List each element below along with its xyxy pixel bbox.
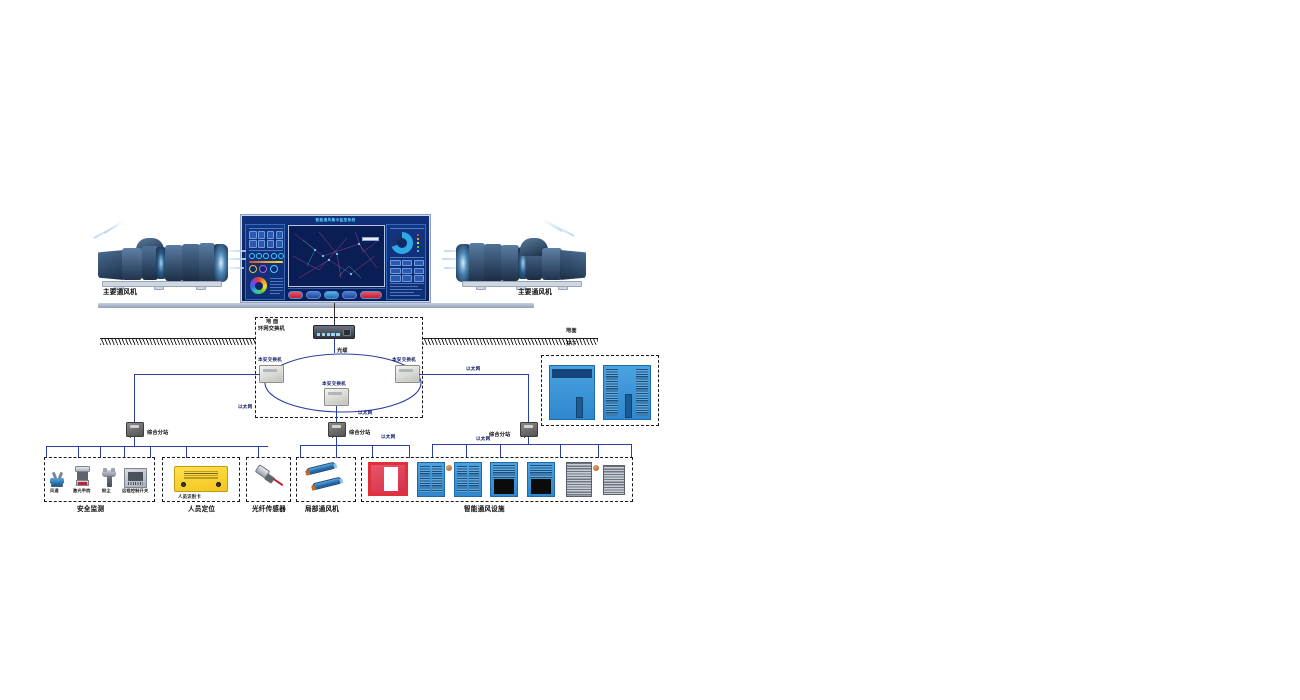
monitor-left-panel — [245, 224, 285, 300]
monitor-stat-cell — [402, 260, 413, 266]
topology-tooltip — [362, 237, 379, 241]
ring-switch-label-line2: 环网交换机 — [258, 327, 285, 333]
fan-barrel-section — [469, 243, 485, 283]
bus-riser-n — [500, 444, 501, 458]
surface-label: 地面 — [566, 329, 577, 335]
monitor-color-wheel — [250, 277, 267, 294]
card-button[interactable] — [216, 482, 221, 487]
control-room-floor — [98, 303, 534, 308]
ventilation-airlock-frame[interactable] — [368, 462, 408, 496]
personnel-id-card-label: 人员识别卡 — [178, 494, 201, 499]
topology-graph — [289, 226, 384, 286]
monitor-gauge — [263, 253, 269, 259]
safe-switch-right[interactable] — [395, 365, 420, 383]
air-door-louver — [469, 466, 479, 494]
fan-base-foot — [558, 286, 568, 290]
monitor-icon-cell[interactable] — [276, 231, 284, 239]
fan-barrel-section — [182, 244, 200, 282]
wind-speed-sensor-label: 风速 — [50, 489, 59, 494]
dust-sensor-label: 粉尘 — [102, 489, 111, 494]
bus-riser-p — [598, 444, 599, 458]
monitor-dial-row — [249, 265, 278, 273]
monitor-action-button[interactable] — [324, 291, 339, 299]
group-fiber-sensor-label: 光纤传感器 — [252, 506, 286, 514]
bus-middle — [300, 445, 410, 446]
bus-riser-l — [432, 444, 433, 458]
air-door-leaf — [576, 397, 583, 418]
main-fan-left — [96, 224, 236, 296]
air-door-louver — [432, 466, 442, 494]
monitor-stat-cell — [414, 275, 425, 281]
monitor-icon-grid — [249, 231, 283, 248]
air-door-louver — [530, 465, 552, 478]
monitor-stat-cell — [390, 275, 401, 281]
safe-switch-left-label: 本安交换机 — [258, 357, 282, 362]
monitor-action-buttons — [288, 290, 385, 300]
air-door-louver — [457, 466, 467, 494]
switch-ports — [317, 333, 340, 336]
air-door-opening — [494, 479, 514, 494]
monitor-legend-swatch — [417, 246, 419, 248]
ethernet-left-run — [134, 374, 260, 375]
smart-air-door-2[interactable] — [454, 462, 482, 497]
ethernet-label-1: 以太网 — [238, 404, 252, 409]
personnel-id-card-icon[interactable] — [174, 466, 228, 492]
monitor-stat-cell — [414, 260, 425, 266]
ethernet-label-4: 以太网 — [381, 434, 395, 439]
monitor-legend-swatch — [417, 242, 419, 244]
ethernet-label-5: 以太网 — [476, 436, 490, 441]
underground-label: 井下 — [566, 342, 577, 348]
substation-middle[interactable] — [328, 422, 346, 437]
switch-module — [343, 329, 351, 336]
card-text-lines — [184, 471, 217, 478]
safe-switch-left[interactable] — [259, 365, 284, 383]
monitor-stat-cell — [402, 275, 413, 281]
fan-barrel-section — [542, 248, 562, 280]
dust-sensor-icon[interactable] — [102, 468, 116, 488]
fan-outlet-ring — [214, 244, 228, 282]
fan-barrel-section — [484, 244, 502, 282]
control-room-monitor: 智能通风集中监控系统 — [241, 215, 430, 302]
monitor-icon-cell[interactable] — [249, 240, 257, 248]
substation-middle-label: 综合分站 — [349, 431, 371, 437]
air-regulator-1[interactable] — [566, 462, 592, 497]
ethernet-label-2: 以太网 — [466, 366, 480, 371]
fan-barrel-section — [165, 245, 183, 281]
group-safety-monitoring-label: 安全监测 — [77, 506, 104, 514]
airflow-streak — [541, 218, 562, 232]
ethernet-right-run — [419, 374, 529, 375]
fiber-optic-sensor-icon[interactable] — [254, 464, 284, 496]
fan-barrel-section — [501, 245, 519, 281]
bus-riser-m — [466, 444, 467, 458]
sensor-fiber-tip — [272, 478, 283, 486]
monitor-stat-cell — [390, 268, 401, 274]
fan-intake-cone — [560, 250, 586, 280]
safe-switch-right-label: 本安交换机 — [392, 357, 416, 362]
safe-switch-bottom[interactable] — [324, 388, 349, 406]
monitor-icon-cell[interactable] — [249, 231, 257, 239]
monitor-icon-cell[interactable] — [267, 240, 275, 248]
monitor-icon-cell[interactable] — [258, 231, 266, 239]
remote-control-switch-label: 远程控制开关 — [122, 489, 148, 494]
monitor-stat-cell — [390, 260, 401, 266]
ring-network-switch[interactable] — [313, 325, 355, 339]
ethernet-right-drop — [528, 374, 529, 423]
monitor-dial — [270, 265, 278, 273]
monitor-right-panel — [386, 224, 426, 300]
fan-intake-cone — [98, 250, 124, 280]
monitor-legend-swatch — [417, 234, 419, 236]
monitor-action-button[interactable] — [306, 291, 321, 299]
ethernet-left-drop — [134, 374, 135, 423]
monitor-icon-cell[interactable] — [267, 231, 275, 239]
bus-riser-q — [631, 444, 632, 458]
monitor-dial — [259, 265, 267, 273]
ethernet-label-3: 以太网 — [358, 410, 372, 415]
monitor-action-button[interactable] — [342, 291, 357, 299]
wind-speed-sensor-icon[interactable] — [49, 472, 66, 488]
monitor-gauge — [256, 253, 262, 259]
door-actuator-knob — [446, 465, 452, 471]
air-door-louver — [606, 369, 618, 416]
safe-switch-bottom-label: 本安交换机 — [322, 381, 346, 386]
smart-air-door-3[interactable] — [490, 462, 518, 497]
fan-outlet-ring — [456, 244, 470, 282]
main-fan-right — [448, 224, 588, 296]
air-door-lintel — [552, 369, 592, 377]
air-door-louver — [636, 369, 648, 416]
substation-left-label: 综合分站 — [147, 431, 169, 437]
switch-antenna-icon — [334, 312, 335, 326]
air-door-opening — [531, 479, 551, 494]
fan-base-foot — [196, 286, 206, 290]
monitor-stat-cell — [402, 268, 413, 274]
bus-left — [46, 446, 268, 447]
monitor-network-topology[interactable] — [288, 225, 385, 287]
monitor-stat-cell — [414, 268, 425, 274]
fan-base-foot — [476, 286, 486, 290]
monitor-legend-swatch — [417, 250, 419, 252]
ground-surface-line-left — [100, 338, 255, 345]
fan-barrel-section — [199, 243, 215, 283]
monitor-gauge-row — [249, 253, 284, 259]
bus-riser-o — [560, 444, 561, 458]
smart-air-door-1[interactable] — [417, 462, 445, 497]
monitor-donut-chart — [391, 232, 413, 254]
monitor-icon-cell[interactable] — [258, 240, 266, 248]
monitor-legend-swatch — [417, 238, 419, 240]
remote-control-switch-icon[interactable] — [124, 468, 147, 488]
main-fan-right-label: 主要通风机 — [518, 289, 552, 297]
group-smart-ventilation-facilities-label: 智能通风设施 — [464, 506, 505, 514]
regulator-actuator-knob — [593, 465, 599, 471]
substation-left[interactable] — [126, 422, 144, 437]
air-regulator-2[interactable] — [603, 465, 625, 495]
monitor-action-button[interactable] — [360, 291, 382, 299]
air-door-louver — [420, 466, 430, 494]
air-door-leaf — [625, 394, 631, 418]
group-personnel-positioning-label: 人员定位 — [188, 506, 215, 514]
monitor-status-bar — [249, 261, 283, 263]
monitor-screen-title: 智能通风集中监控系统 — [242, 218, 429, 223]
fan-barrel-section — [122, 248, 142, 280]
airflow-streak — [103, 220, 124, 234]
air-door-left[interactable] — [549, 365, 595, 420]
monitor-gauge — [249, 253, 255, 259]
diagram-canvas: 智能通风集中监控系统 — [0, 0, 1300, 700]
laser-methane-sensor-label: 激光甲烷 — [73, 489, 91, 494]
substation-right[interactable] — [520, 422, 538, 437]
main-fan-left-label: 主要通风机 — [103, 289, 137, 297]
laser-methane-sensor-icon[interactable] — [74, 466, 91, 488]
monitor-icon-cell[interactable] — [276, 240, 284, 248]
substation-right-label: 综合分站 — [489, 433, 511, 439]
group-local-fan-label: 局部通风机 — [305, 506, 339, 514]
monitor-action-button[interactable] — [288, 291, 303, 299]
monitor-gauge — [271, 253, 277, 259]
card-button[interactable] — [181, 482, 186, 487]
monitor-dial — [249, 265, 257, 273]
fan-base-foot — [154, 286, 164, 290]
air-door-right[interactable] — [603, 365, 651, 420]
monitor-stat-grid — [390, 260, 424, 282]
monitor-gauge — [278, 253, 284, 259]
air-door-louver — [493, 465, 515, 478]
bus-right — [432, 444, 632, 445]
smart-air-door-4[interactable] — [527, 462, 555, 497]
